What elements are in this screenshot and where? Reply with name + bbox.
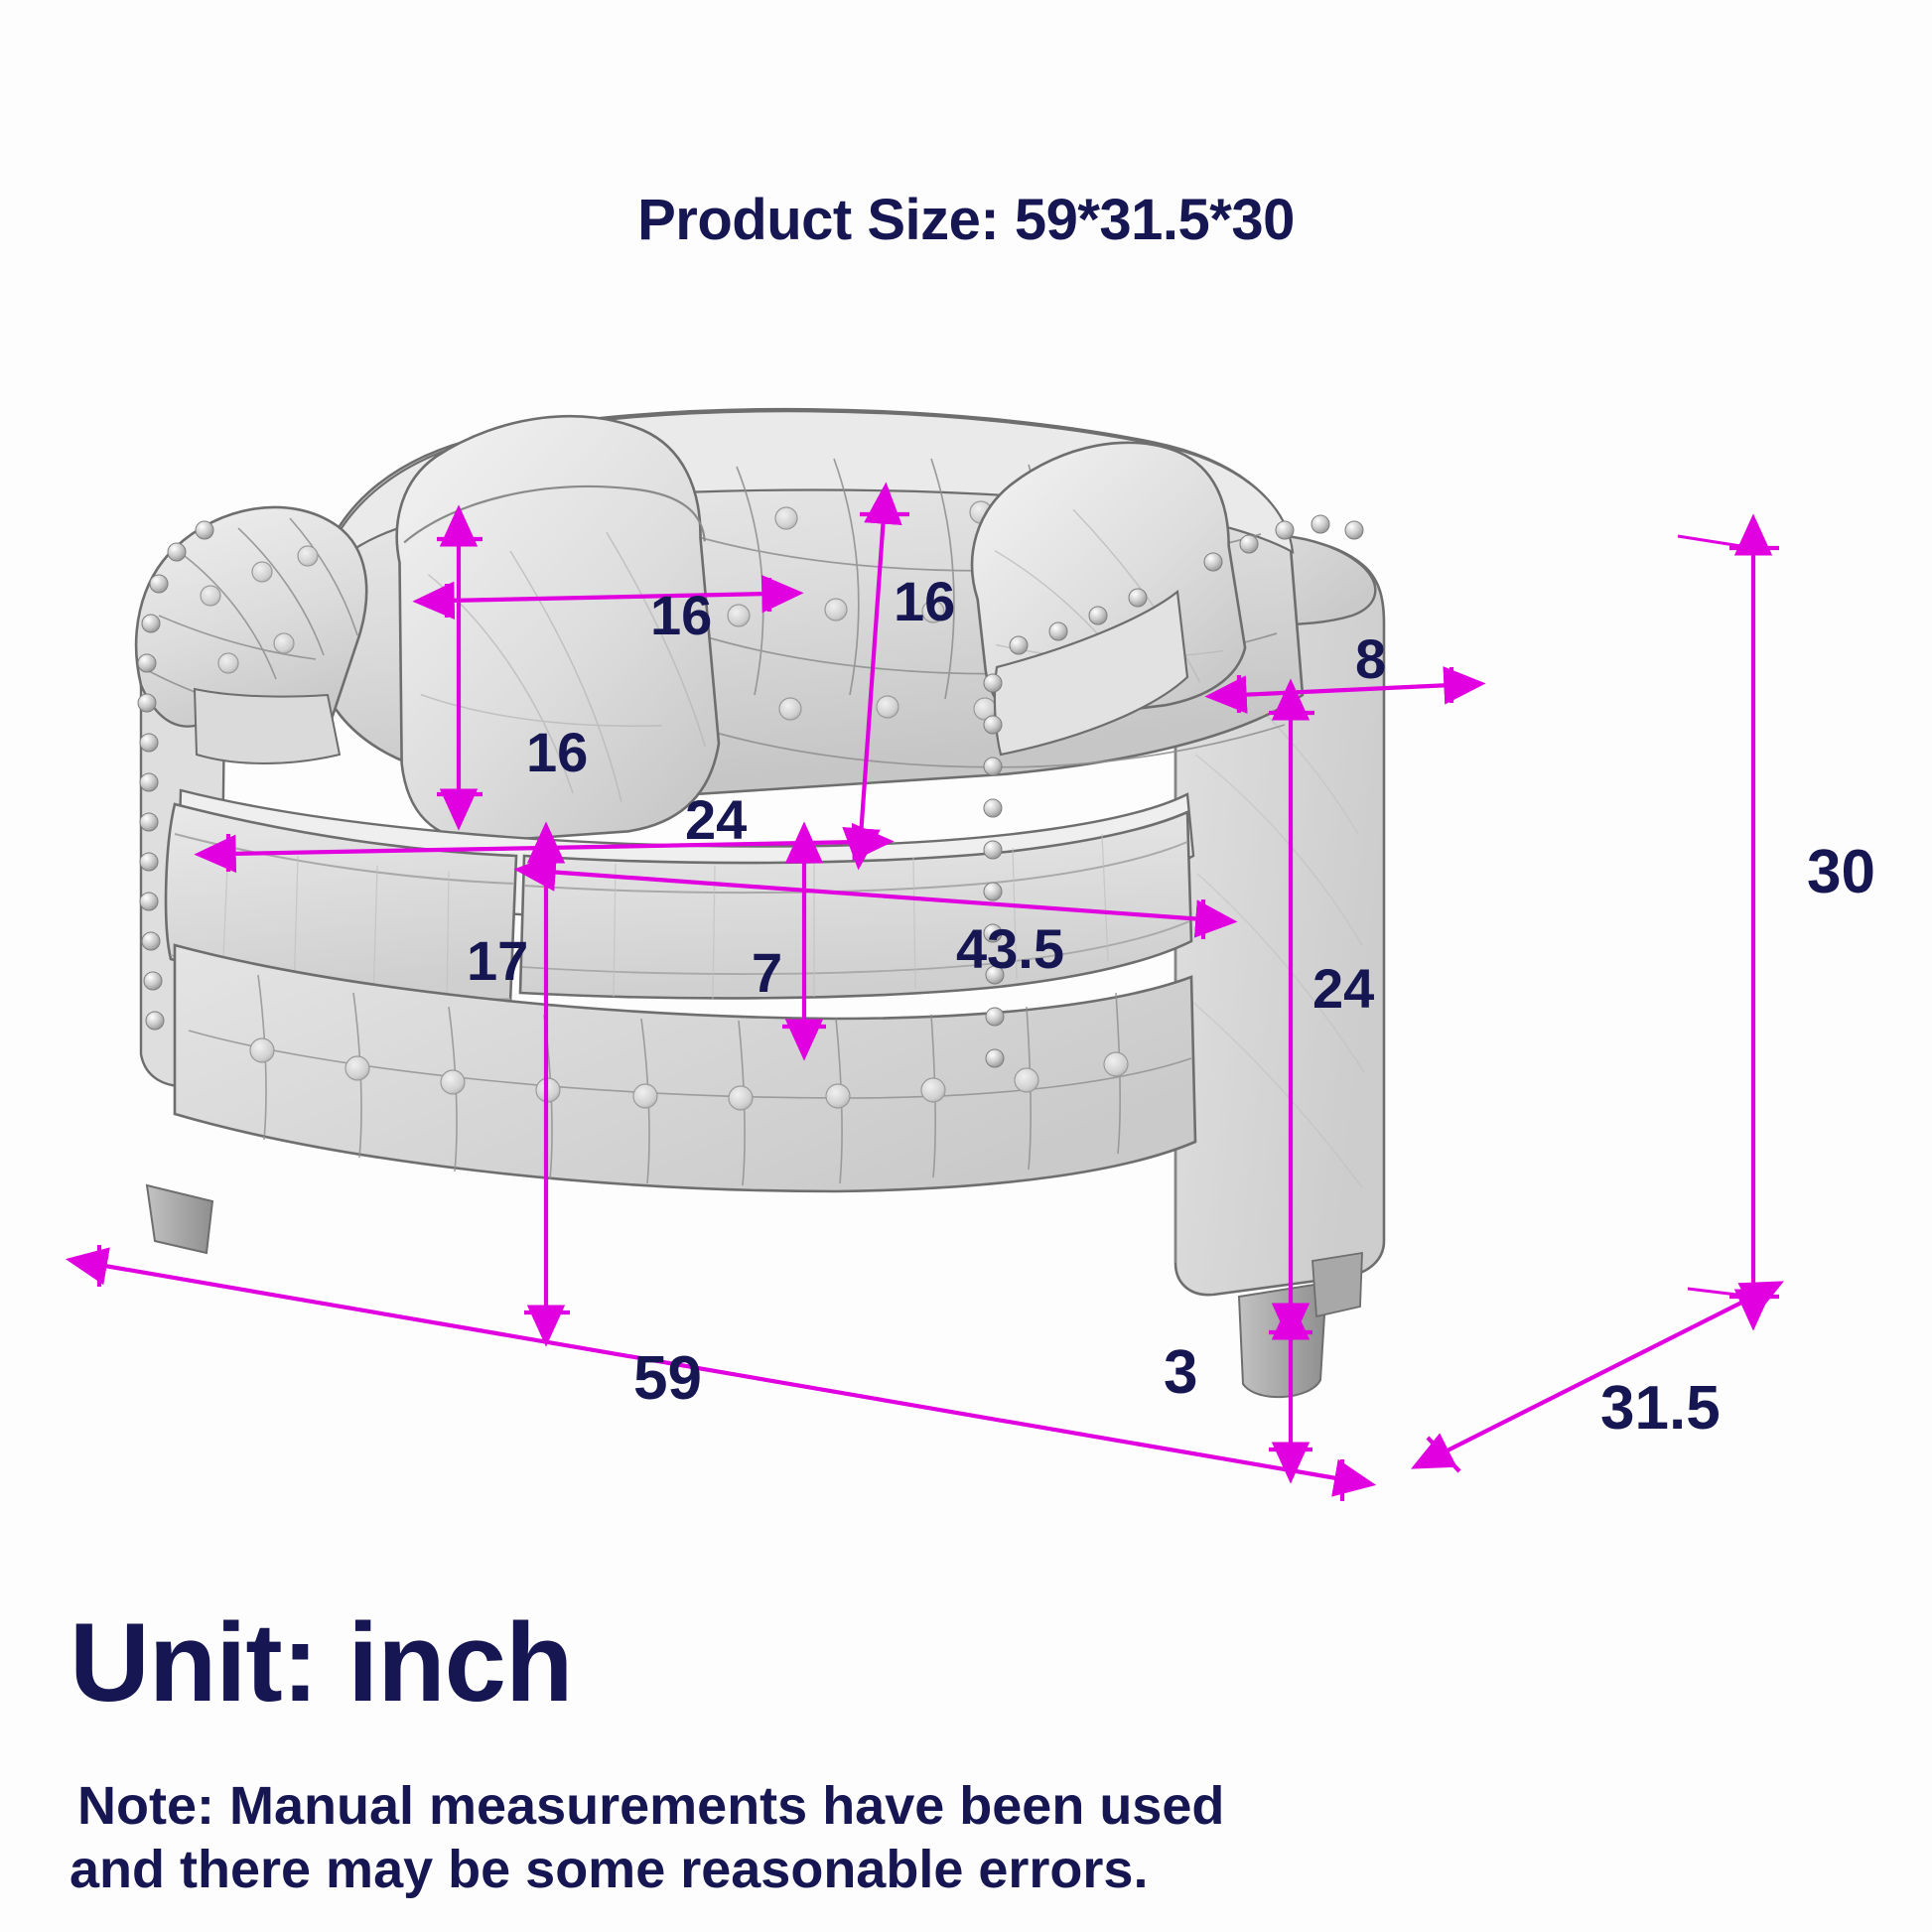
leg-front-right (1239, 1283, 1326, 1397)
dimension-label-backrest-height: 16 (894, 574, 955, 629)
leg-front-left (147, 1185, 212, 1253)
dimension-label-arm-height: 24 (1312, 961, 1374, 1017)
dimline-overall-height (1678, 536, 1779, 1297)
dimension-label-overall-depth: 31.5 (1600, 1378, 1721, 1440)
leg-back-right (1312, 1253, 1362, 1316)
dimension-label-leg-height: 3 (1164, 1342, 1197, 1404)
dimline-overall-width (99, 1245, 1342, 1501)
dimension-label-overall-height: 30 (1807, 842, 1875, 903)
dimension-label-seat-width: 43.5 (956, 921, 1064, 977)
left-back-panel (195, 689, 340, 763)
dimension-label-cushion-thickness: 7 (752, 945, 782, 1001)
dimension-label-seat-back-depth: 24 (685, 792, 747, 848)
dimension-label-pillow-height: 16 (526, 725, 588, 780)
dimension-label-seat-height: 17 (467, 933, 528, 989)
dimension-label-overall-width: 59 (633, 1348, 702, 1410)
dimension-label-arm-width: 8 (1355, 631, 1386, 687)
sofa-graphic (136, 407, 1384, 1397)
unit-label: Unit: inch (69, 1598, 572, 1726)
product-dimension-diagram: Product Size: 59*31.5*30 (0, 0, 1932, 1932)
note-line-1: Note: Manual measurements have been used (77, 1775, 1224, 1837)
dimension-label-pillow-width: 16 (650, 588, 712, 643)
note-line-2: and there may be some reasonable errors. (69, 1839, 1148, 1900)
